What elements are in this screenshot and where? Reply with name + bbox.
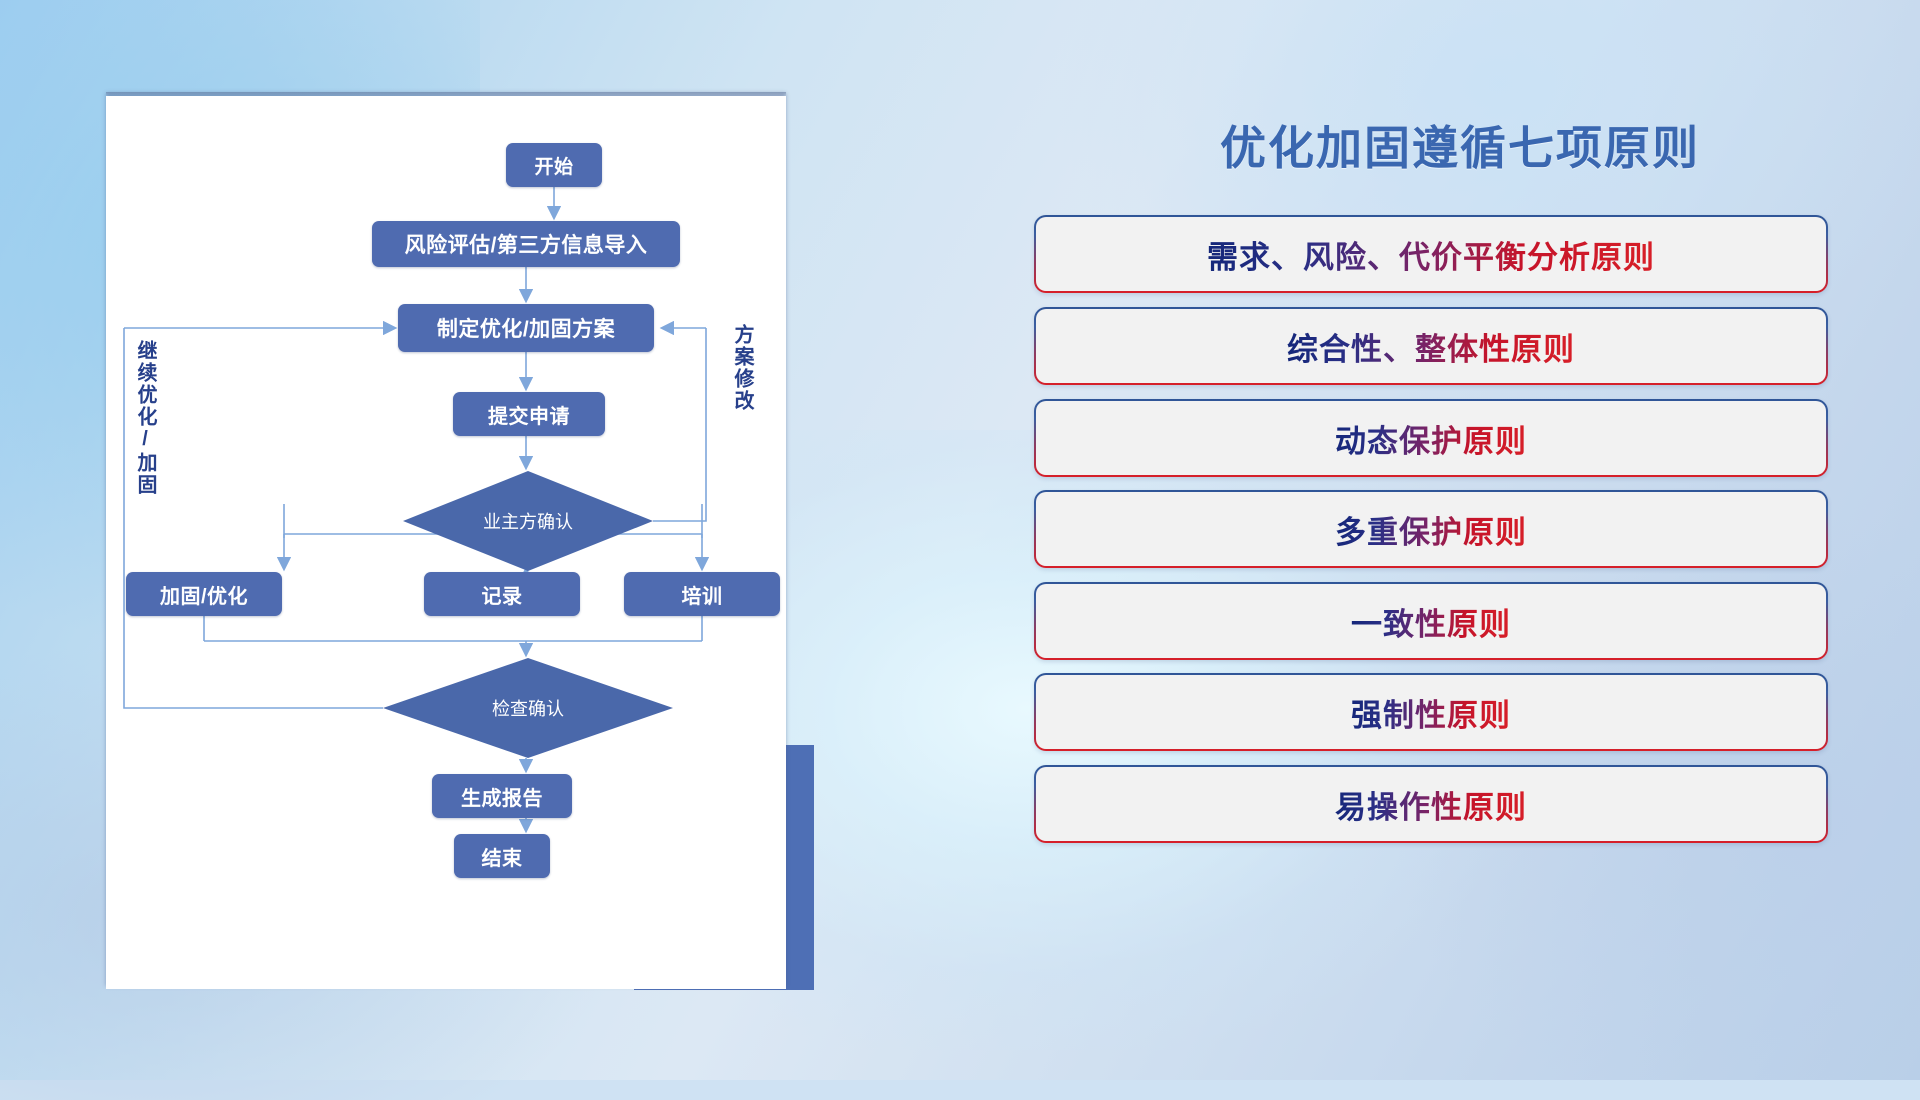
principle-card-label: 综合性、整体性原则 — [1287, 324, 1575, 369]
flow-node-owner-confirm[interactable]: 业主方确认 — [403, 471, 653, 571]
principle-card[interactable]: 综合性、整体性原则 — [1034, 307, 1828, 385]
principle-card-label: 一致性原则 — [1351, 599, 1511, 644]
principle-card[interactable]: 需求、风险、代价平衡分析原则 — [1034, 215, 1828, 293]
flow-node-label: 制定优化/加固方案 — [437, 313, 615, 343]
flow-node-label: 检查确认 — [492, 695, 564, 721]
flow-node-end[interactable]: 结束 — [454, 834, 550, 878]
flow-edge-label-continue: 继续优化/加固 — [131, 340, 160, 496]
flow-node-reinforce[interactable]: 加固/优化 — [126, 572, 282, 616]
flow-node-label: 结束 — [482, 842, 523, 871]
flow-node-record[interactable]: 记录 — [424, 572, 580, 616]
flow-node-label: 风险评估/第三方信息导入 — [405, 229, 648, 259]
principle-card[interactable]: 多重保护原则 — [1034, 490, 1828, 568]
flow-node-risk-assessment[interactable]: 风险评估/第三方信息导入 — [372, 221, 680, 267]
flow-node-label: 生成报告 — [461, 782, 543, 811]
flow-node-check-confirm[interactable]: 检查确认 — [383, 658, 673, 758]
flow-node-plan[interactable]: 制定优化/加固方案 — [398, 304, 654, 352]
page-title: 优化加固遵循七项原则 — [1010, 112, 1910, 178]
flow-node-submit[interactable]: 提交申请 — [453, 392, 605, 436]
principle-card-label: 多重保护原则 — [1335, 507, 1527, 552]
principle-card-label: 动态保护原则 — [1335, 416, 1527, 461]
flow-node-label: 培训 — [682, 580, 723, 609]
flowchart: 开始 风险评估/第三方信息导入 制定优化/加固方案 提交申请 业主方确认 加固/… — [106, 96, 786, 989]
flow-node-label: 提交申请 — [488, 400, 570, 429]
principles-panel: 优化加固遵循七项原则 需求、风险、代价平衡分析原则 综合性、整体性原则 动态保护… — [1010, 0, 1910, 1080]
flowchart-panel: 开始 风险评估/第三方信息导入 制定优化/加固方案 提交申请 业主方确认 加固/… — [106, 96, 786, 989]
principle-card[interactable]: 一致性原则 — [1034, 582, 1828, 660]
principle-card[interactable]: 易操作性原则 — [1034, 765, 1828, 843]
principle-card[interactable]: 强制性原则 — [1034, 673, 1828, 751]
flow-edge-label-revise: 方案修改 — [728, 324, 757, 412]
flow-node-start[interactable]: 开始 — [506, 143, 602, 187]
principle-card-label: 强制性原则 — [1351, 690, 1511, 735]
flow-node-label: 业主方确认 — [483, 508, 573, 534]
flow-node-training[interactable]: 培训 — [624, 572, 780, 616]
flow-node-report[interactable]: 生成报告 — [432, 774, 572, 818]
principle-card[interactable]: 动态保护原则 — [1034, 399, 1828, 477]
flow-node-label: 记录 — [482, 580, 523, 609]
flow-node-label: 开始 — [534, 152, 573, 179]
principle-card-label: 需求、风险、代价平衡分析原则 — [1207, 232, 1655, 277]
principle-card-label: 易操作性原则 — [1335, 782, 1527, 827]
flow-node-label: 加固/优化 — [160, 580, 248, 609]
